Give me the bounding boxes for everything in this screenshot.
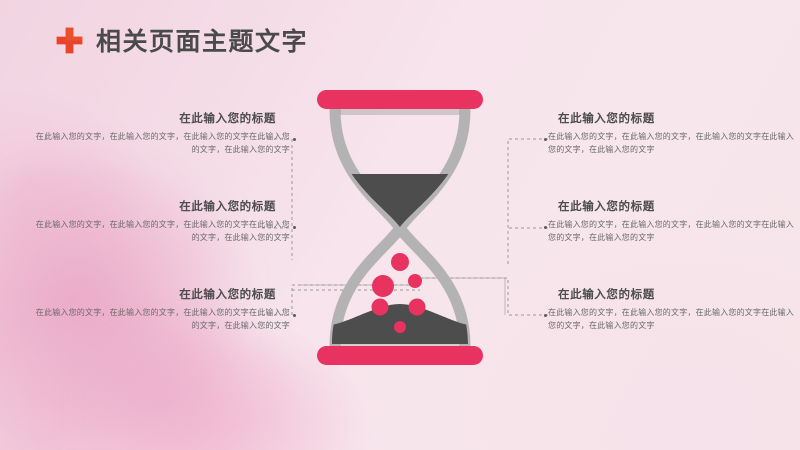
hourglass-illustration	[305, 88, 495, 368]
callout-right-2: 在此输入您的标题 在此输入您的文字，在此输入您的文字，在此输入您的文字在此输入您…	[548, 200, 798, 245]
callout-left-1: 在此输入您的标题 在此输入您的文字，在此输入您的文字，在此输入您的文字在此输入您…	[30, 112, 290, 157]
callout-left-2: 在此输入您的标题 在此输入您的文字，在此输入您的文字，在此输入您的文字在此输入您…	[30, 200, 290, 245]
page-title: 相关页面主题文字	[96, 22, 308, 58]
callout-right-3: 在此输入您的标题 在此输入您的文字，在此输入您的文字，在此输入您的文字在此输入您…	[548, 288, 798, 333]
callout-body: 在此输入您的文字，在此输入您的文字，在此输入您的文字在此输入您的文字，在此输入您…	[30, 131, 290, 157]
slide-header: 相关页面主题文字	[56, 22, 308, 58]
callout-bullet	[544, 314, 547, 317]
callout-bullet	[544, 138, 547, 141]
callout-heading: 在此输入您的标题	[548, 112, 798, 127]
callout-bullet	[293, 314, 296, 317]
callout-body: 在此输入您的文字，在此输入您的文字，在此输入您的文字在此输入您的文字，在此输入您…	[548, 219, 798, 245]
slide-canvas: 相关页面主题文字	[0, 0, 800, 450]
callout-heading: 在此输入您的标题	[30, 288, 290, 303]
watercolor-wash-bottom-left	[60, 330, 340, 450]
callout-left-3: 在此输入您的标题 在此输入您的文字，在此输入您的文字，在此输入您的文字在此输入您…	[30, 288, 290, 333]
callout-bullet	[293, 138, 296, 141]
callout-heading: 在此输入您的标题	[548, 200, 798, 215]
red-cross-plus-icon	[56, 27, 83, 54]
callout-heading: 在此输入您的标题	[30, 112, 290, 127]
callout-heading: 在此输入您的标题	[548, 288, 798, 303]
callout-body: 在此输入您的文字，在此输入您的文字，在此输入您的文字在此输入您的文字，在此输入您…	[30, 219, 290, 245]
callout-body: 在此输入您的文字，在此输入您的文字，在此输入您的文字在此输入您的文字，在此输入您…	[548, 307, 798, 333]
callout-bullet	[544, 226, 547, 229]
callout-body: 在此输入您的文字，在此输入您的文字，在此输入您的文字在此输入您的文字，在此输入您…	[548, 131, 798, 157]
callout-bullet	[293, 226, 296, 229]
watercolor-wash-bottom	[180, 360, 380, 450]
callout-right-1: 在此输入您的标题 在此输入您的文字，在此输入您的文字，在此输入您的文字在此输入您…	[548, 112, 798, 157]
callout-heading: 在此输入您的标题	[30, 200, 290, 215]
callout-body: 在此输入您的文字，在此输入您的文字，在此输入您的文字在此输入您的文字，在此输入您…	[30, 307, 290, 333]
